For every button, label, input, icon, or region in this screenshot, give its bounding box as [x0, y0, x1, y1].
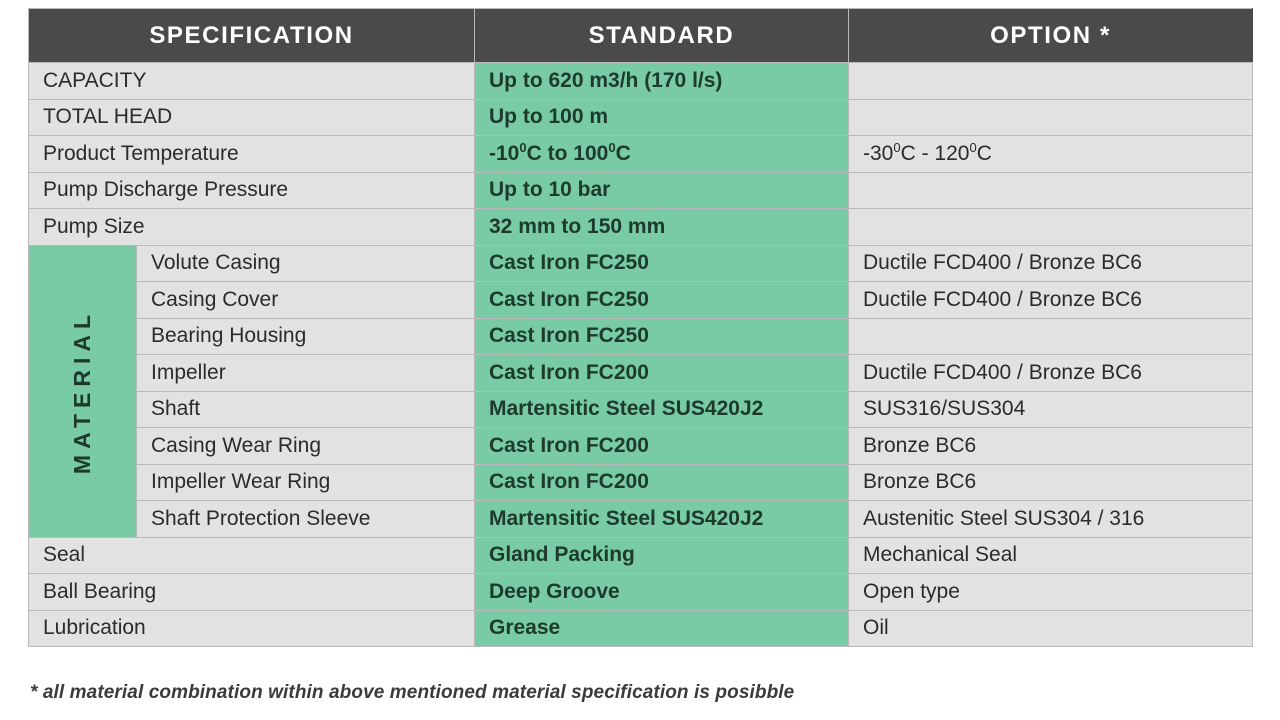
standard-value-shaft-protection-sleeve: Martensitic Steel SUS420J2	[475, 501, 849, 538]
table-row: Pump Discharge Pressure Up to 10 bar	[29, 172, 1253, 209]
header-row: SPECIFICATION STANDARD OPTION *	[29, 9, 1253, 63]
option-value-shaft: SUS316/SUS304	[849, 391, 1253, 428]
component-label-impeller: Impeller	[137, 355, 475, 392]
option-value-product-temperature: -300C - 1200C	[849, 136, 1253, 173]
component-label-volute-casing: Volute Casing	[137, 245, 475, 282]
component-label-impeller-wear-ring: Impeller Wear Ring	[137, 464, 475, 501]
option-value-casing-cover: Ductile FCD400 / Bronze BC6	[849, 282, 1253, 319]
spec-label-capacity: CAPACITY	[29, 63, 475, 100]
component-label-shaft-protection-sleeve: Shaft Protection Sleeve	[137, 501, 475, 538]
table-row: Impeller Wear Ring Cast Iron FC200 Bronz…	[29, 464, 1253, 501]
component-label-bearing-housing: Bearing Housing	[137, 318, 475, 355]
table-row: Casing Wear Ring Cast Iron FC200 Bronze …	[29, 428, 1253, 465]
option-value-total-head	[849, 99, 1253, 136]
degree-marker-icon: 0	[969, 140, 976, 155]
table-row: Product Temperature -100C to 1000C -300C…	[29, 136, 1253, 173]
option-value-impeller: Ductile FCD400 / Bronze BC6	[849, 355, 1253, 392]
component-label-casing-wear-ring: Casing Wear Ring	[137, 428, 475, 465]
footnote-text: * all material combination within above …	[30, 682, 794, 704]
standard-value-impeller: Cast Iron FC200	[475, 355, 849, 392]
table-body: CAPACITY Up to 620 m3/h (170 l/s) TOTAL …	[29, 63, 1253, 647]
option-value-pump-size	[849, 209, 1253, 246]
degree-marker-icon: 0	[608, 140, 615, 155]
temp-opt-mid: C - 120	[901, 142, 970, 165]
column-header-standard: STANDARD	[475, 9, 849, 63]
degree-marker-icon: 0	[519, 140, 526, 155]
column-header-option: OPTION *	[849, 9, 1253, 63]
standard-value-pump-size: 32 mm to 150 mm	[475, 209, 849, 246]
spec-label-pump-size: Pump Size	[29, 209, 475, 246]
column-header-specification: SPECIFICATION	[29, 9, 475, 63]
table-row: Ball Bearing Deep Groove Open type	[29, 574, 1253, 611]
table-row: Shaft Protection Sleeve Martensitic Stee…	[29, 501, 1253, 538]
spec-label-lubrication: Lubrication	[29, 610, 475, 647]
table-row: CAPACITY Up to 620 m3/h (170 l/s)	[29, 63, 1253, 100]
component-label-shaft: Shaft	[137, 391, 475, 428]
spec-label-ball-bearing: Ball Bearing	[29, 574, 475, 611]
standard-value-seal: Gland Packing	[475, 537, 849, 574]
degree-marker-icon: 0	[893, 140, 900, 155]
spec-label-total-head: TOTAL HEAD	[29, 99, 475, 136]
spec-label-pump-discharge-pressure: Pump Discharge Pressure	[29, 172, 475, 209]
table-row: Lubrication Grease Oil	[29, 610, 1253, 647]
standard-value-pump-discharge-pressure: Up to 10 bar	[475, 172, 849, 209]
standard-value-casing-wear-ring: Cast Iron FC200	[475, 428, 849, 465]
material-label-text: MATERIAL	[69, 308, 96, 473]
table-header: SPECIFICATION STANDARD OPTION *	[29, 9, 1253, 63]
option-value-volute-casing: Ductile FCD400 / Bronze BC6	[849, 245, 1253, 282]
option-value-bearing-housing	[849, 318, 1253, 355]
spec-label-seal: Seal	[29, 537, 475, 574]
option-value-casing-wear-ring: Bronze BC6	[849, 428, 1253, 465]
specification-sheet: SPECIFICATION STANDARD OPTION * CAPACITY…	[0, 0, 1280, 720]
table-row: Seal Gland Packing Mechanical Seal	[29, 537, 1253, 574]
standard-value-ball-bearing: Deep Groove	[475, 574, 849, 611]
option-value-pump-discharge-pressure	[849, 172, 1253, 209]
temp-std-unit: C	[616, 142, 631, 165]
material-group-label: MATERIAL	[29, 245, 137, 537]
standard-value-total-head: Up to 100 m	[475, 99, 849, 136]
option-value-shaft-protection-sleeve: Austenitic Steel SUS304 / 316	[849, 501, 1253, 538]
table-row: Impeller Cast Iron FC200 Ductile FCD400 …	[29, 355, 1253, 392]
option-value-impeller-wear-ring: Bronze BC6	[849, 464, 1253, 501]
table-row: Pump Size 32 mm to 150 mm	[29, 209, 1253, 246]
table-row: TOTAL HEAD Up to 100 m	[29, 99, 1253, 136]
temp-std-low: -10	[489, 142, 519, 165]
table-row: Bearing Housing Cast Iron FC250	[29, 318, 1253, 355]
option-value-seal: Mechanical Seal	[849, 537, 1253, 574]
table-row: Shaft Martensitic Steel SUS420J2 SUS316/…	[29, 391, 1253, 428]
specification-table: SPECIFICATION STANDARD OPTION * CAPACITY…	[28, 8, 1253, 647]
table-row: MATERIAL Volute Casing Cast Iron FC250 D…	[29, 245, 1253, 282]
temp-opt-low: -30	[863, 142, 893, 165]
spec-label-product-temperature: Product Temperature	[29, 136, 475, 173]
standard-value-volute-casing: Cast Iron FC250	[475, 245, 849, 282]
standard-value-casing-cover: Cast Iron FC250	[475, 282, 849, 319]
table-row: Casing Cover Cast Iron FC250 Ductile FCD…	[29, 282, 1253, 319]
temp-std-mid: C to 100	[527, 142, 609, 165]
material-label-wrapper: MATERIAL	[29, 246, 136, 537]
option-value-lubrication: Oil	[849, 610, 1253, 647]
standard-value-product-temperature: -100C to 1000C	[475, 136, 849, 173]
standard-value-lubrication: Grease	[475, 610, 849, 647]
standard-value-impeller-wear-ring: Cast Iron FC200	[475, 464, 849, 501]
standard-value-bearing-housing: Cast Iron FC250	[475, 318, 849, 355]
standard-value-shaft: Martensitic Steel SUS420J2	[475, 391, 849, 428]
option-value-capacity	[849, 63, 1253, 100]
temp-opt-unit: C	[977, 142, 992, 165]
component-label-casing-cover: Casing Cover	[137, 282, 475, 319]
option-value-ball-bearing: Open type	[849, 574, 1253, 611]
standard-value-capacity: Up to 620 m3/h (170 l/s)	[475, 63, 849, 100]
